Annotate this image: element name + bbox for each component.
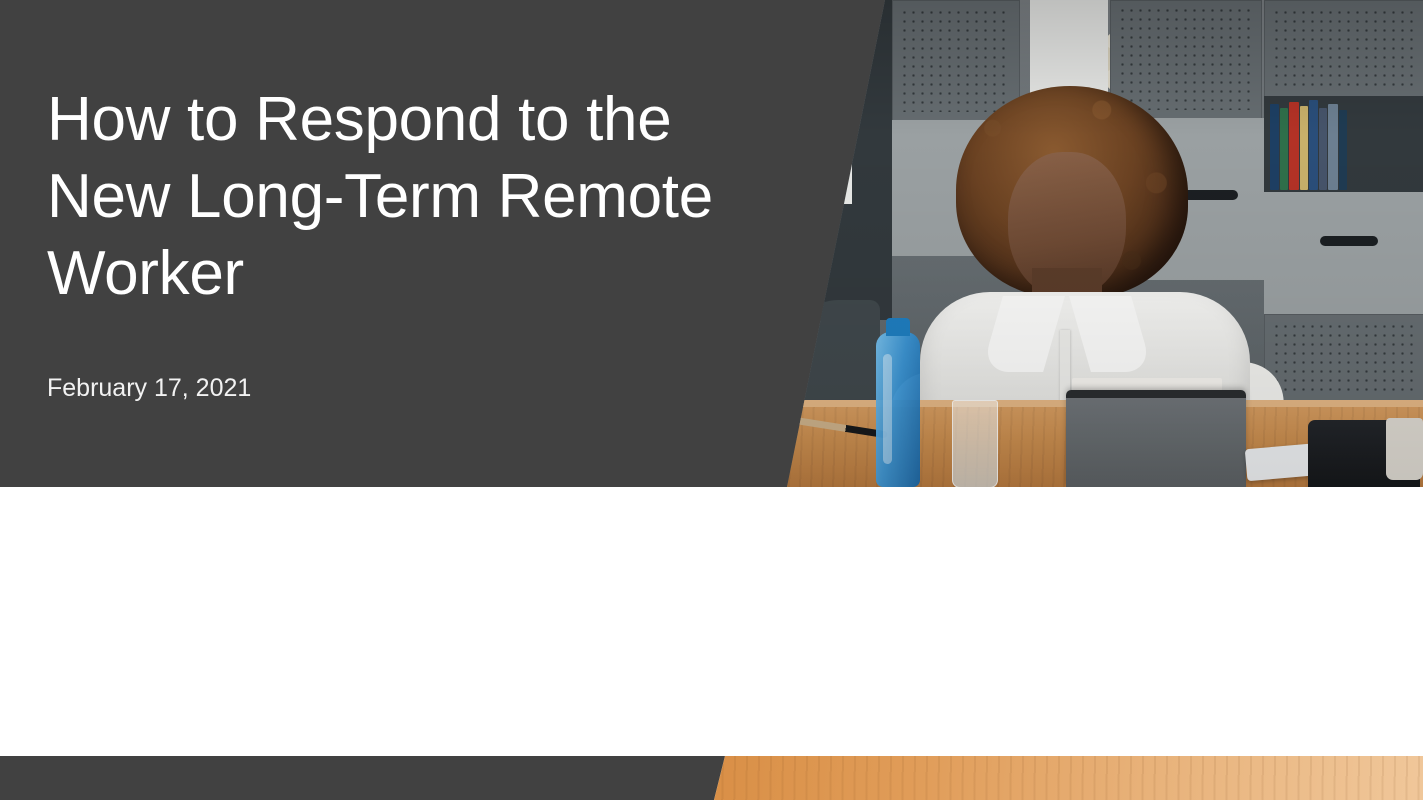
- hero-panel: How to Respond to the New Long-Term Remo…: [0, 0, 1423, 487]
- laptop: [1066, 390, 1246, 487]
- footer-dark-block: [0, 756, 740, 800]
- water-bottle: [876, 332, 920, 487]
- sponsor-section: BROUGHT TO YOU BY Alliant EMPLOYEE BENEF…: [0, 487, 1423, 756]
- mug: [1386, 418, 1423, 480]
- shelf-white-box: [796, 150, 852, 204]
- page-title: How to Respond to the New Long-Term Remo…: [47, 82, 727, 313]
- footer-bar: [0, 756, 1423, 800]
- title-slide: How to Respond to the New Long-Term Remo…: [0, 0, 1423, 800]
- footer-wood-block: [710, 756, 1423, 800]
- photo-canvas: [780, 0, 1423, 487]
- drinking-glass: [952, 400, 998, 487]
- slide-date: February 17, 2021: [47, 374, 251, 403]
